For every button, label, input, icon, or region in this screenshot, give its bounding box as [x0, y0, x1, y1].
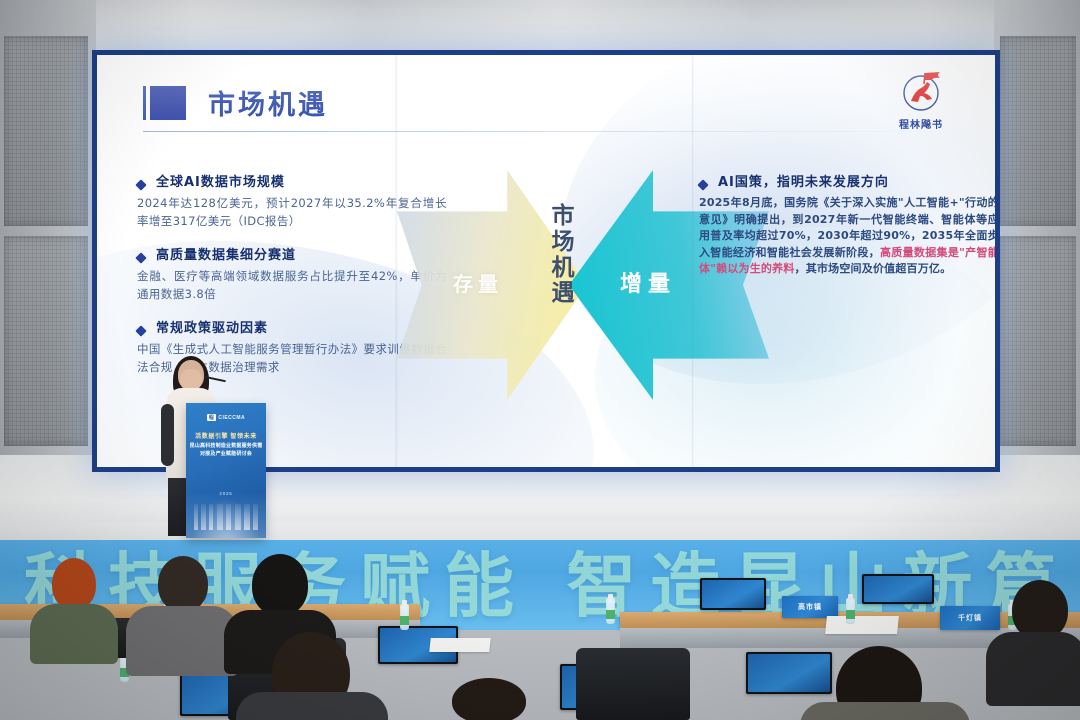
- bullet-block: AI国策，指明未来发展方向 2025年8月底，国务院《关于深入实施"人工智能+"…: [699, 175, 999, 278]
- audience-torso: [986, 632, 1080, 706]
- placard-label: 高市镇: [798, 602, 822, 612]
- audience-torso: [30, 604, 118, 664]
- bullet-body-post: ，其市场空间及价值超百万亿。: [795, 262, 952, 275]
- company-logo: 程林飚书: [881, 67, 961, 139]
- center-char-2: 场: [543, 230, 583, 256]
- audience-torso: [126, 606, 238, 676]
- audience-head: [52, 558, 96, 610]
- horse-flag-icon: [894, 67, 948, 115]
- water-bottle: [846, 598, 855, 624]
- right-mesh-panel-upper: [1000, 36, 1076, 226]
- podium-banner-date: 2025: [186, 491, 266, 496]
- bullet-body: 2025年8月底，国务院《关于深入实施"人工智能+"行动的意见》明确提出，到20…: [699, 195, 999, 278]
- title-divider: [143, 131, 949, 132]
- desk-monitor: [700, 578, 766, 610]
- stock-arrow-label: 存量: [423, 268, 533, 297]
- right-mesh-panel-lower: [1000, 236, 1076, 446]
- audience-chair: [576, 648, 690, 720]
- bullet-heading: 常规政策驱动因素: [156, 321, 268, 337]
- podium-skyline-graphic: [194, 504, 258, 530]
- increment-arrow-label: 增量: [583, 266, 713, 298]
- left-mesh-panel-lower: [4, 236, 88, 446]
- water-bottle: [400, 604, 409, 630]
- audience-head: [1012, 580, 1068, 640]
- right-wall: [994, 0, 1080, 470]
- center-char-1: 市: [543, 204, 583, 230]
- bullet-heading: AI国策，指明未来发展方向: [718, 175, 889, 191]
- presenter-left-arm: [161, 404, 174, 466]
- right-text-column: AI国策，指明未来发展方向 2025年8月底，国务院《关于深入实施"人工智能+"…: [699, 175, 999, 295]
- diamond-bullet-icon: [135, 179, 146, 190]
- podium-org-logo: 程CIECCMA: [186, 414, 266, 421]
- left-wall: [0, 0, 96, 470]
- audience-torso-front: [800, 702, 970, 720]
- diamond-bullet-icon: [697, 179, 708, 190]
- name-placard: 千灯镇: [940, 606, 1000, 630]
- title-marker-icon: [143, 86, 186, 120]
- audience-foreground: 高市镇 千灯镇: [0, 560, 1080, 720]
- audience-head: [158, 556, 208, 612]
- name-placard: 高市镇: [782, 596, 838, 618]
- opportunity-arrow-diagram: 存量 增量 市 场 机 遇: [397, 160, 727, 410]
- audience-head-front: [452, 678, 526, 720]
- podium-banner-title: 活数据引擎 智领未来: [190, 431, 262, 440]
- audience-head: [252, 554, 308, 616]
- bullet-heading: 高质量数据集细分赛道: [156, 248, 296, 264]
- desk-monitor: [746, 652, 832, 694]
- conference-room-photo: 市场机遇 程林飚书: [0, 0, 1080, 720]
- water-bottle: [606, 598, 615, 624]
- diamond-bullet-icon: [135, 325, 146, 336]
- left-mesh-panel-upper: [4, 36, 88, 226]
- desk-paper: [429, 638, 490, 652]
- podium-banner-subtitle: 昆山高科技制造业数据服务供需对接及产业赋能研讨会: [189, 443, 263, 458]
- diamond-bullet-icon: [135, 252, 146, 263]
- podium-org-chip: 程: [207, 414, 217, 421]
- ceiling-wall: [0, 0, 1080, 52]
- desk-monitor: [862, 574, 934, 604]
- center-char-3: 机: [543, 256, 583, 282]
- logo-wordmark: 程林飚书: [881, 116, 961, 131]
- desk-paper: [825, 616, 899, 634]
- diagram-center-label: 市 场 机 遇: [543, 204, 583, 307]
- podium-org-name: CIECCMA: [218, 415, 245, 421]
- podium-banner: 程CIECCMA 活数据引擎 智领未来 昆山高科技制造业数据服务供需对接及产业赋…: [186, 403, 266, 538]
- slide-title-row: 市场机遇: [143, 83, 328, 122]
- placard-label: 千灯镇: [958, 613, 982, 623]
- slide-title: 市场机遇: [208, 83, 328, 122]
- bullet-heading: 全球AI数据市场规模: [156, 175, 285, 191]
- audience-torso-front: [236, 692, 388, 720]
- center-char-4: 遇: [543, 281, 583, 307]
